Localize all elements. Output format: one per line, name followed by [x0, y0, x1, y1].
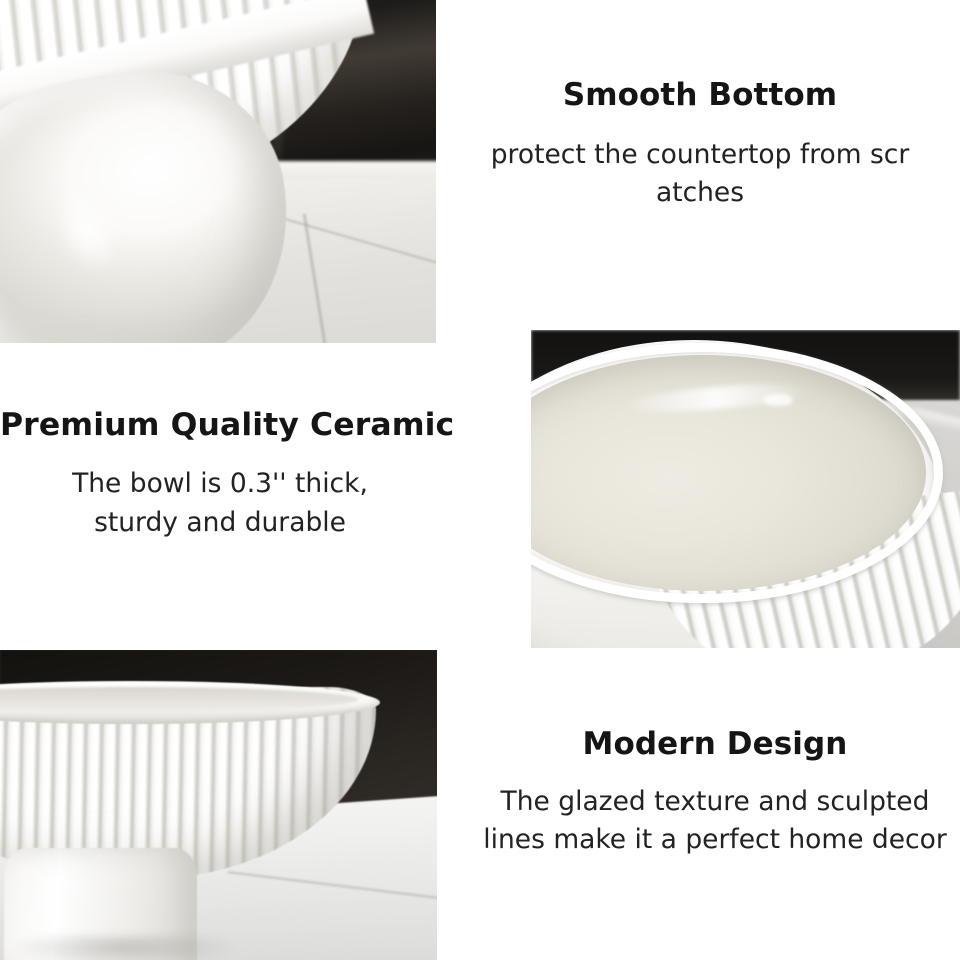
product-infographic: Smooth Bottom protect the countertop fro…	[0, 0, 960, 960]
feature-heading-premium-quality-ceramic: Premium Quality Ceramic	[0, 407, 440, 443]
feature-text-modern-design: Modern Design The glazed texture and scu…	[470, 727, 960, 859]
feature-body-smooth-bottom: protect the countertop from scr atches	[440, 136, 960, 213]
feature-text-smooth-bottom: Smooth Bottom protect the countertop fro…	[440, 78, 960, 212]
feature-body-line-2: lines make it a perfect home decor	[483, 824, 946, 855]
photo-smooth-bottom	[0, 0, 436, 343]
feature-body-line-1: The bowl is 0.3'' thick,	[72, 468, 368, 499]
photo-bowl-interior	[531, 330, 960, 648]
feature-body-modern-design: The glazed texture and sculpted lines ma…	[470, 783, 960, 860]
glaze-highlight	[763, 394, 793, 407]
feature-body-line-1: protect the countertop from scr	[491, 139, 910, 170]
feature-body-line-1: The glazed texture and sculpted	[501, 786, 930, 817]
contact-shadow	[9, 935, 236, 960]
feature-heading-smooth-bottom: Smooth Bottom	[440, 78, 960, 114]
feature-body-line-2: sturdy and durable	[94, 507, 346, 538]
feature-text-premium-quality-ceramic: Premium Quality Ceramic The bowl is 0.3'…	[0, 407, 440, 542]
pedestal-highlight	[41, 179, 131, 284]
feature-body-premium-quality-ceramic: The bowl is 0.3'' thick, sturdy and dura…	[0, 465, 440, 542]
feature-heading-modern-design: Modern Design	[470, 727, 960, 763]
photo-modern-design	[0, 650, 437, 960]
feature-body-line-2: atches	[656, 177, 744, 208]
